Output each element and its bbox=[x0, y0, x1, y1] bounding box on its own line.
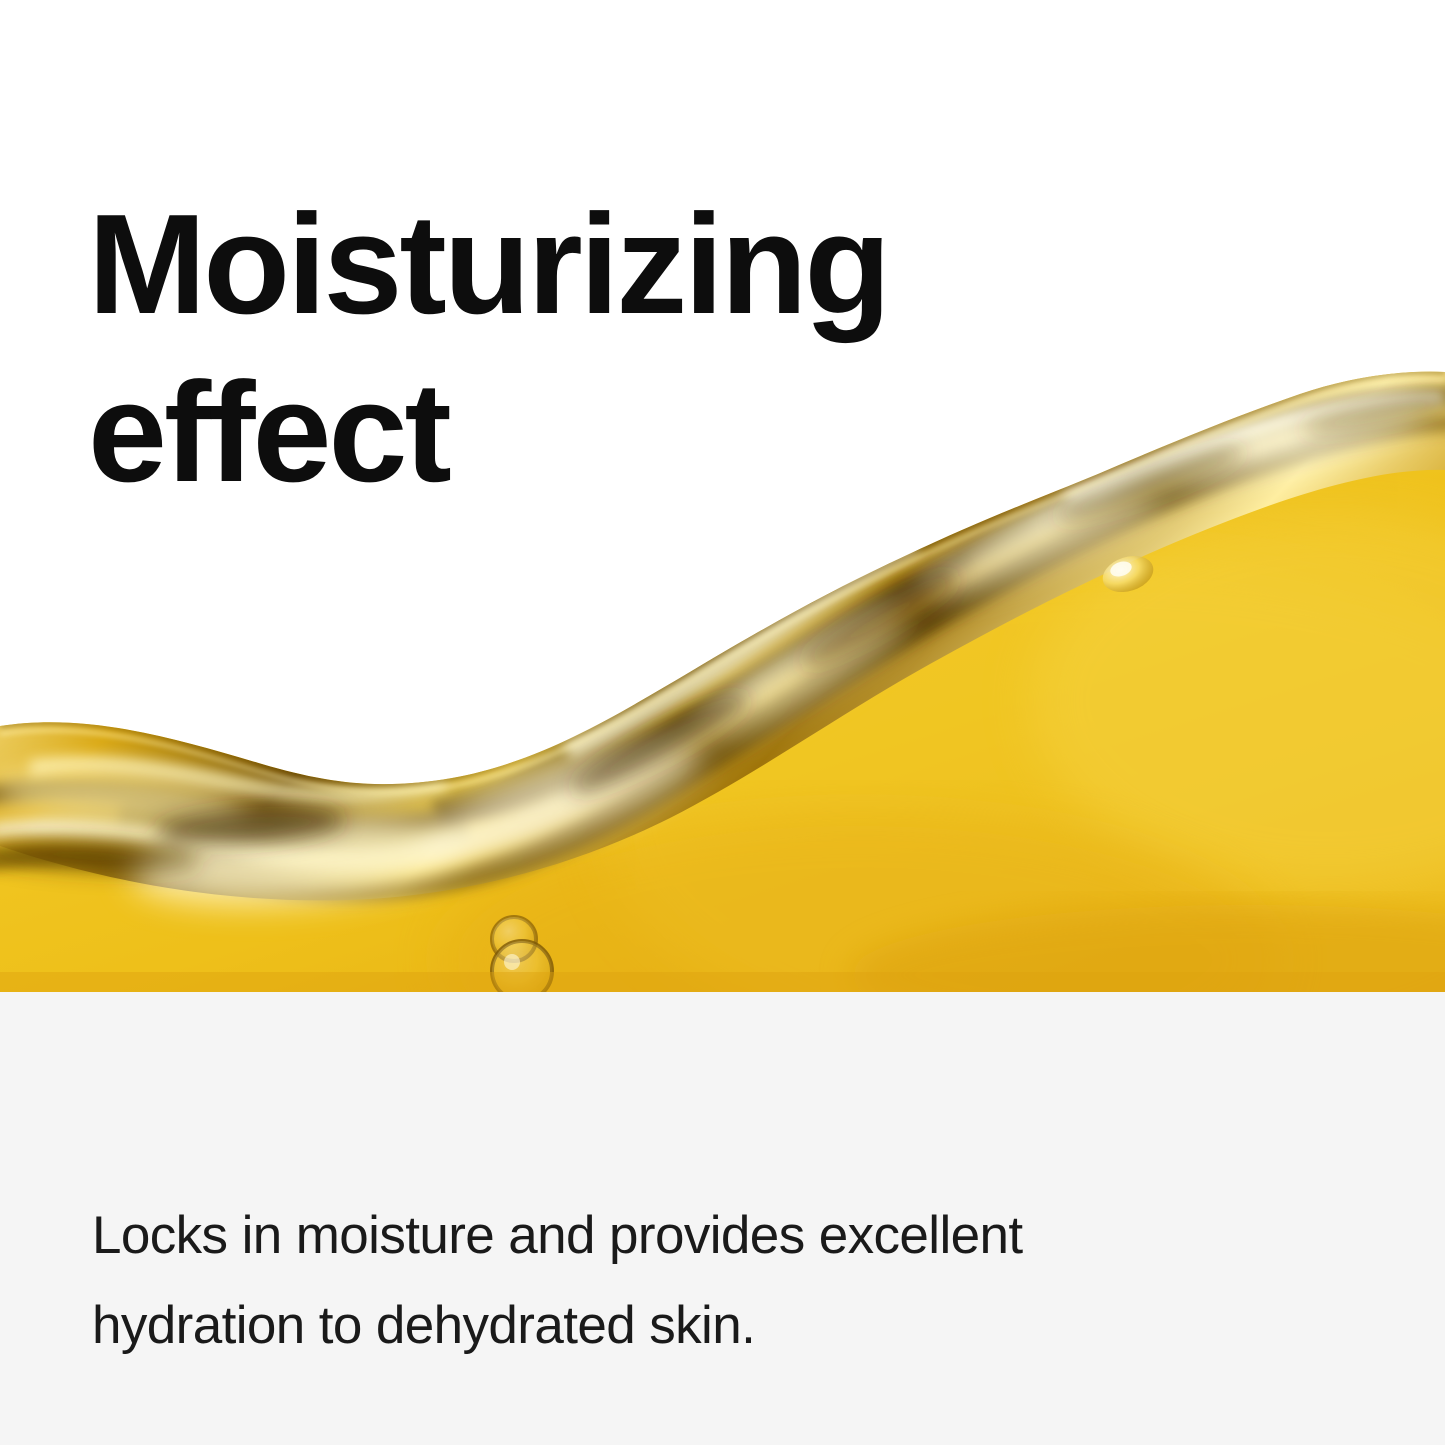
caption-description: Locks in moisture and provides excellent… bbox=[92, 1191, 1272, 1371]
product-feature-card: Moisturizing effect Locks in moisture an… bbox=[0, 0, 1445, 1445]
hero-section: Moisturizing effect bbox=[0, 0, 1445, 992]
page-title: Moisturizing effect bbox=[88, 181, 1088, 517]
caption-panel: Locks in moisture and provides excellent… bbox=[0, 992, 1445, 1445]
